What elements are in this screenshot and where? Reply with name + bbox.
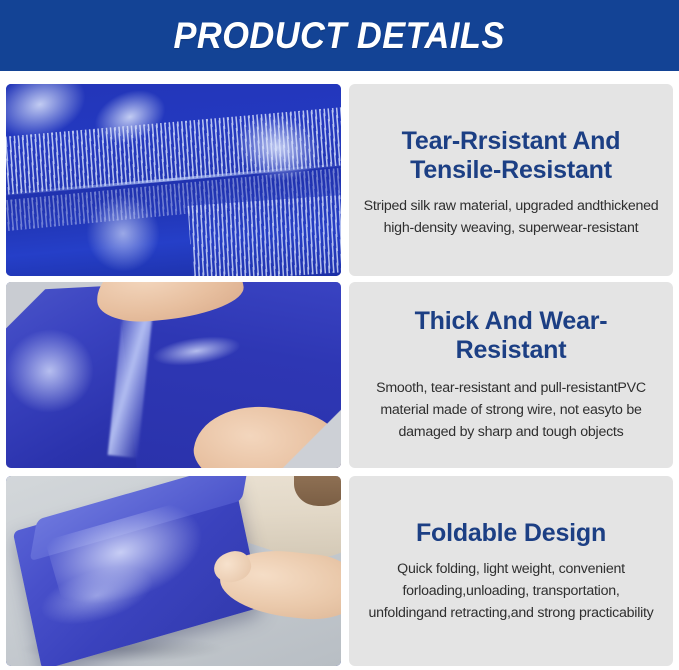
feature-row-2: Thick And Wear-Resistant Smooth, tear-re… [6,282,673,468]
feature-image-3 [6,476,341,666]
feature-body-3: Quick folding, light weight, convenient … [363,558,659,624]
feature-row-3: Foldable Design Quick folding, light wei… [6,476,673,666]
feature-row-1: Tear-Rrsistant And Tensile-Resistant Str… [6,84,673,276]
page-title: PRODUCT DETAILS [174,15,505,57]
feature-title-1: Tear-Rrsistant And Tensile-Resistant [363,127,659,185]
highlight-sheen [6,323,100,419]
feature-panel-1: Tear-Rrsistant And Tensile-Resistant Str… [349,84,673,276]
feature-title-3: Foldable Design [416,519,606,548]
feature-image-1 [6,84,341,276]
feature-body-1: Striped silk raw material, upgraded andt… [363,195,659,239]
feature-title-2: Thick And Wear-Resistant [363,307,659,365]
product-details-banner: PRODUCT DETAILS [0,0,679,71]
woven-stripe-band [188,193,341,276]
feature-panel-3: Foldable Design Quick folding, light wei… [349,476,673,666]
feature-panel-2: Thick And Wear-Resistant Smooth, tear-re… [349,282,673,468]
backdrop-corner [6,282,60,330]
feature-body-2: Smooth, tear-resistant and pull-resistan… [363,377,659,443]
backdrop-corner [267,405,341,468]
feature-image-2 [6,282,341,468]
highlight-sheen [83,192,164,276]
